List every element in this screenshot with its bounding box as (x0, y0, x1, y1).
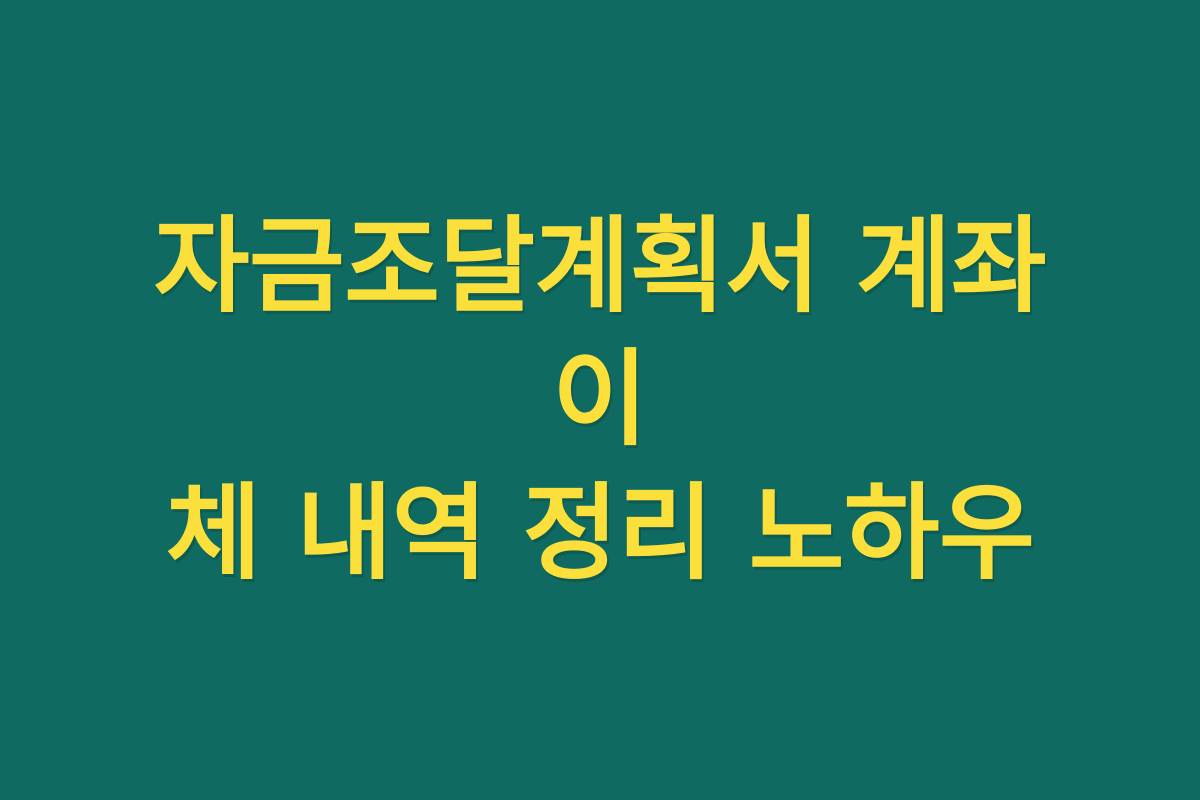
headline-line-2: 체 내역 정리 노하우 (95, 467, 1105, 600)
page-title: 자금조달계획서 계좌 이 체 내역 정리 노하우 (95, 200, 1105, 599)
headline-line-1: 자금조달계획서 계좌 이 (95, 200, 1105, 466)
banner-card: 자금조달계획서 계좌 이 체 내역 정리 노하우 (0, 0, 1200, 800)
